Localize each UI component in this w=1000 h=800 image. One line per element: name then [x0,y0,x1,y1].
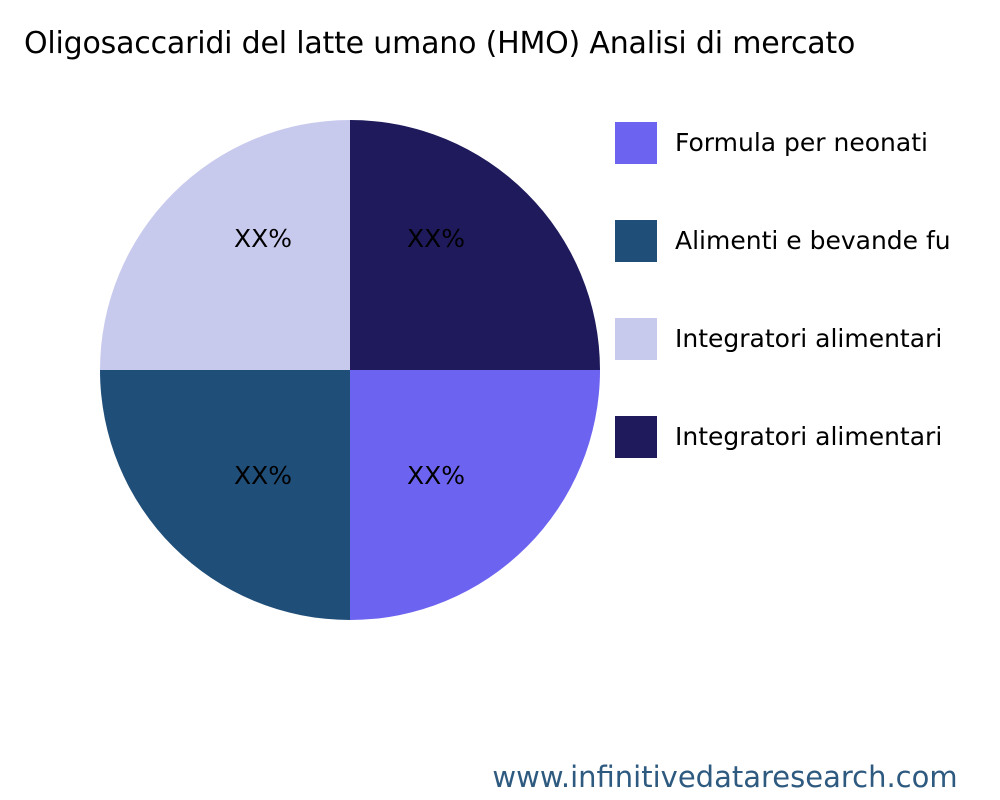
legend-item-label: Formula per neonati [675,120,928,166]
pie-slice-bottom-right[interactable] [350,370,600,620]
pie-slice-bottom-left[interactable] [100,370,350,620]
chart-page: Oligosaccaridi del latte umano (HMO) Ana… [0,0,1000,800]
legend-swatch-icon [615,416,657,458]
pie-slice-label-bottom-left: XX% [234,461,292,490]
legend-item-formula-per-neonati[interactable]: Formula per neonati [615,120,1000,218]
pie-slice-label-bottom-right: XX% [407,461,465,490]
legend-item-label: Integratori alimentari [675,316,942,362]
footer-website-url[interactable]: www.infinitivedataresearch.com [0,757,1000,797]
pie-slice-label-top-left: XX% [234,224,292,253]
legend-swatch-icon [615,122,657,164]
legend: Formula per neonati Alimenti e bevande f… [615,120,1000,512]
pie-chart: XX% XX% XX% XX% [100,120,600,620]
legend-swatch-icon [615,318,657,360]
legend-item-integratori-alimentari-light[interactable]: Integratori alimentari [615,316,1000,414]
legend-item-integratori-alimentari-dark[interactable]: Integratori alimentari [615,414,1000,512]
legend-item-label: Alimenti e bevande fu [675,218,951,264]
pie-slice-top-left[interactable] [100,120,350,370]
pie-slice-top-right[interactable] [350,120,600,370]
pie-slice-label-top-right: XX% [407,224,465,253]
legend-item-alimenti-e-bevande[interactable]: Alimenti e bevande fu [615,218,1000,316]
pie-chart-svg: XX% XX% XX% XX% [100,120,600,620]
page-title: Oligosaccaridi del latte umano (HMO) Ana… [24,24,1000,64]
legend-item-label: Integratori alimentari [675,414,942,460]
legend-swatch-icon [615,220,657,262]
